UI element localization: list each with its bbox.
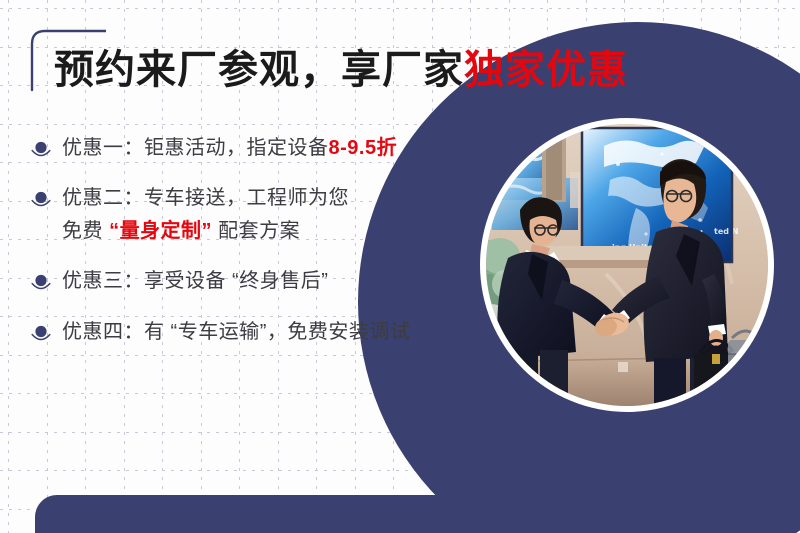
list-item-text: 优惠二：专车接送，工程师为您 免费 “量身定制” 配套方案 (62, 182, 498, 247)
list-item-line1-plain: 优惠四：有 “专车运输”，免费安装调试 (62, 321, 410, 343)
title-accent: 独家优惠 (464, 48, 628, 92)
list-item: 优惠二：专车接送，工程师为您 免费 “量身定制” 配套方案 (28, 182, 498, 247)
list-item: 优惠一：钜惠活动，指定设备8-9.5折 (28, 132, 498, 164)
promo-banner: 预约来厂参观，享厂家独家优惠 优惠一：钜惠活动，指定设备8-9.5折 (0, 0, 800, 533)
list-item-line1-plain: 优惠一：钜惠活动，指定设备 (62, 137, 329, 159)
title-plain: 预约来厂参观，享厂家 (54, 48, 464, 92)
list-item-line1-accent: 8-9.5折 (329, 137, 398, 159)
svg-text:ted N: ted N (714, 227, 738, 236)
list-item-text: 优惠三：享受设备 “终身售后” (62, 265, 498, 297)
list-item-text: 优惠一：钜惠活动，指定设备8-9.5折 (62, 132, 498, 164)
list-item: 优惠三：享受设备 “终身售后” (28, 265, 498, 297)
list-item-line2-accent: “量身定制” (109, 220, 212, 242)
list-item-line1-plain: 优惠二：专车接送，工程师为您 (62, 187, 349, 209)
list-item-line2-plain: 免费 (62, 220, 109, 242)
handshake-photo: ing United ted N (486, 124, 768, 406)
grid-line-vertical (8, 0, 9, 533)
list-item: 优惠四：有 “专车运输”，免费安装调试 (28, 316, 498, 348)
eye-bullet-icon (28, 321, 54, 347)
handshake-photo-frame: ing United ted N (480, 118, 774, 412)
list-item-text: 优惠四：有 “专车运输”，免费安装调试 (62, 316, 498, 348)
benefits-list: 优惠一：钜惠活动，指定设备8-9.5折 优惠二：专车接送，工程师为您 免费 “量… (28, 132, 498, 366)
page-title: 预约来厂参观，享厂家独家优惠 (54, 47, 628, 93)
list-item-line1-plain: 优惠三：享受设备 “终身售后” (62, 270, 328, 292)
grid-line-horizontal (0, 8, 800, 9)
list-item-line2-tail: 配套方案 (212, 220, 300, 242)
eye-bullet-icon (28, 270, 54, 296)
eye-bullet-icon (28, 187, 54, 213)
list-item-line2: 免费 “量身定制” 配套方案 (62, 215, 498, 247)
handshake-photo-illustration: ing United ted N (486, 124, 768, 406)
eye-bullet-icon (28, 137, 54, 163)
navy-bottom-bar (35, 495, 493, 533)
